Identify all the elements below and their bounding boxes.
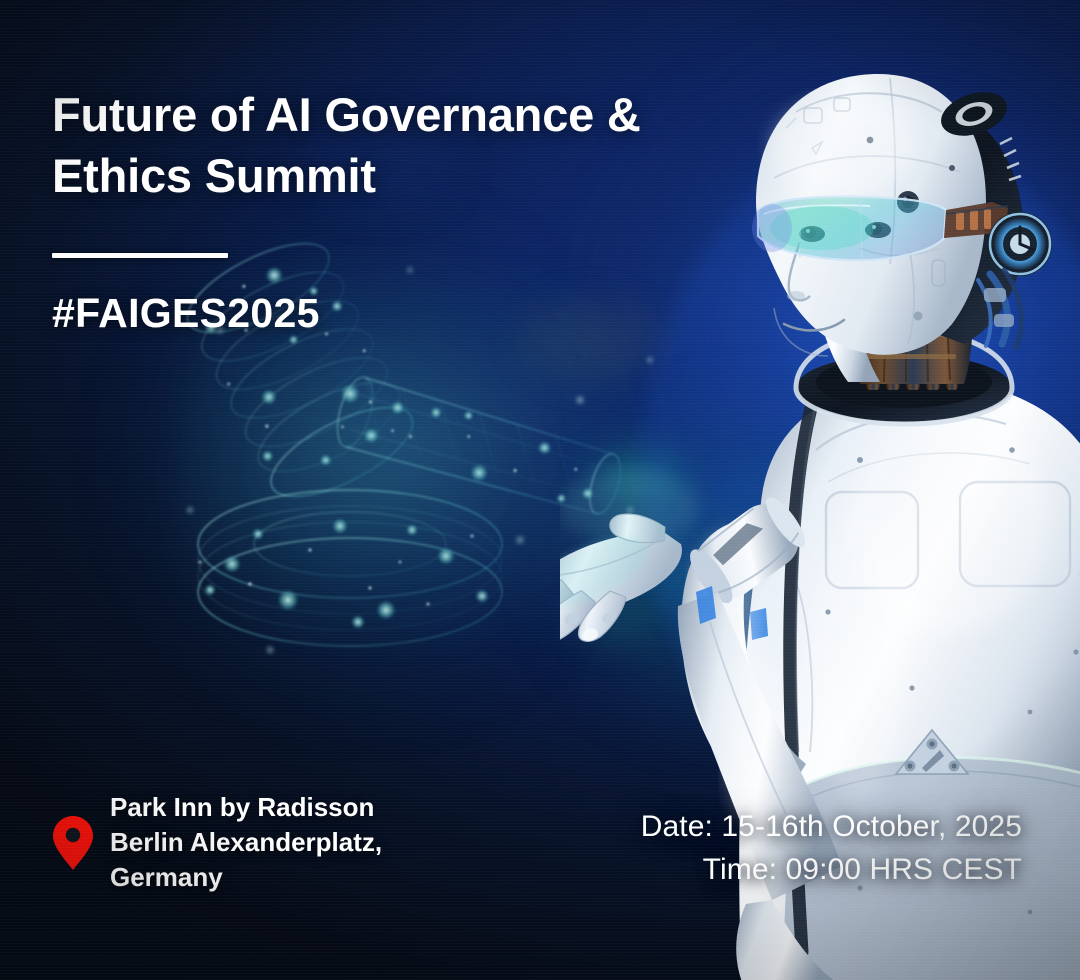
event-poster: Future of AI Governance & Ethics Summit … bbox=[0, 0, 1080, 980]
background-vignette bbox=[0, 0, 1080, 980]
